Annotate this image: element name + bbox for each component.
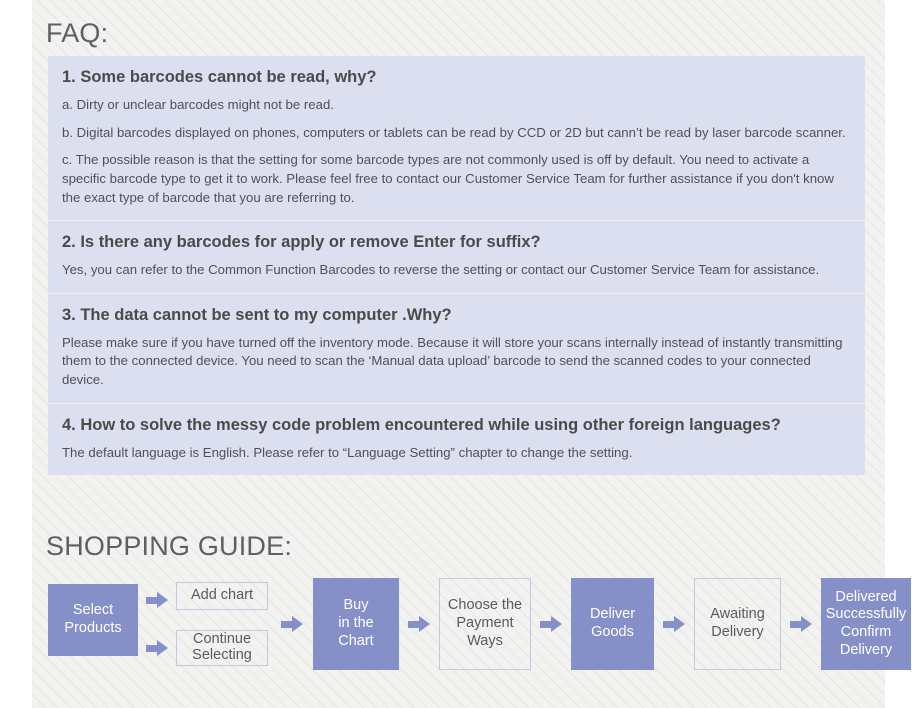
flow-node-deliver-goods: DeliverGoods — [571, 578, 654, 670]
faq-answer: Please make sure if you have turned off … — [62, 334, 851, 390]
flow-node-buy-in-the-chart: Buyin theChart — [313, 578, 399, 670]
shopping-guide-flowchart: SelectProducts Add chart ContinueSelecti… — [48, 568, 870, 672]
flow-arrow-right-icon — [281, 616, 303, 632]
flow-arrow-right-icon — [146, 640, 168, 656]
faq-item-1: 1. Some barcodes cannot be read, why? a.… — [48, 56, 865, 220]
flow-arrow-right-icon — [146, 592, 168, 608]
flow-node-delivered-successfully: DeliveredSuccessfullyConfirmDelivery — [821, 578, 911, 670]
flow-node-continue-selecting: ContinueSelecting — [176, 630, 268, 666]
faq-question: 2. Is there any barcodes for apply or re… — [62, 232, 851, 254]
faq-item-2: 2. Is there any barcodes for apply or re… — [48, 220, 865, 293]
faq-answer-c: c. The possible reason is that the setti… — [62, 151, 851, 207]
flow-node-awaiting-delivery: AwaitingDelivery — [694, 578, 781, 670]
shopping-guide-heading: SHOPPING GUIDE: — [46, 531, 292, 562]
flow-node-add-chart: Add chart — [176, 582, 268, 610]
flow-node-select-products: SelectProducts — [48, 584, 138, 656]
faq-answer: Yes, you can refer to the Common Functio… — [62, 261, 851, 280]
flow-arrow-right-icon — [790, 616, 812, 632]
faq-item-4: 4. How to solve the messy code problem e… — [48, 403, 865, 476]
faq-answer: The default language is English. Please … — [62, 444, 851, 463]
flow-arrow-right-icon — [663, 616, 685, 632]
faq-heading: FAQ: — [46, 18, 108, 49]
faq-question: 4. How to solve the messy code problem e… — [62, 415, 851, 437]
faq-item-3: 3. The data cannot be sent to my compute… — [48, 293, 865, 403]
page-canvas: FAQ: 1. Some barcodes cannot be read, wh… — [32, 0, 885, 708]
faq-answer-a: a. Dirty or unclear barcodes might not b… — [62, 96, 851, 115]
flow-node-choose-payment-ways: Choose thePaymentWays — [439, 578, 531, 670]
flow-arrow-right-icon — [540, 616, 562, 632]
faq-panel: 1. Some barcodes cannot be read, why? a.… — [48, 56, 865, 475]
faq-answer-b: b. Digital barcodes displayed on phones,… — [62, 124, 851, 143]
faq-question: 3. The data cannot be sent to my compute… — [62, 305, 851, 327]
flow-arrow-right-icon — [408, 616, 430, 632]
faq-question: 1. Some barcodes cannot be read, why? — [62, 67, 851, 89]
